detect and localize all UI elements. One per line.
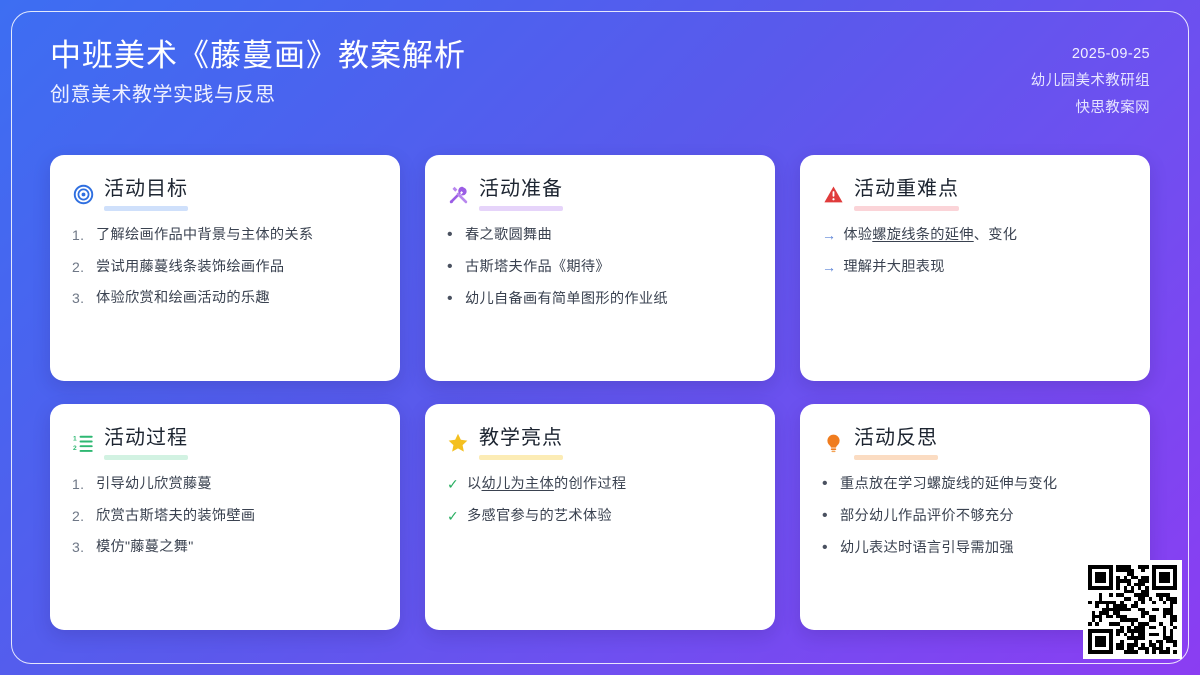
- list-marker: •: [447, 289, 458, 310]
- list-item: 1. 引导幼儿欣赏藤蔓: [72, 474, 378, 495]
- card-title: 活动目标: [104, 177, 188, 205]
- title-underline: [479, 206, 563, 211]
- list-item-text: 幼儿自备画有简单图形的作业纸: [465, 289, 753, 310]
- list-item-text: 体验螺旋线条的延伸、变化: [843, 225, 1128, 246]
- list-item: ✓ 以幼儿为主体的创作过程: [447, 474, 753, 495]
- card-body: 1. 了解绘画作品中背景与主体的关系 2. 尝试用藤蔓线条装饰绘画作品 3. 体…: [72, 225, 378, 309]
- list-marker: 1.: [72, 474, 89, 494]
- list-item-text: 春之歌圆舞曲: [465, 225, 753, 246]
- list-item: 2. 欣赏古斯塔夫的装饰壁画: [72, 506, 378, 527]
- card-title-wrap: 活动反思: [854, 426, 938, 460]
- title-underline: [104, 206, 188, 211]
- list-item: 2. 尝试用藤蔓线条装饰绘画作品: [72, 257, 378, 278]
- title-underline: [854, 206, 959, 211]
- list-item-text: 幼儿表达时语言引导需加强: [840, 538, 1128, 559]
- card-body: ✓ 以幼儿为主体的创作过程 ✓ 多感官参与的艺术体验: [447, 474, 753, 526]
- card-header: 活动目标: [72, 177, 378, 211]
- list-marker: •: [822, 506, 833, 527]
- card-title: 教学亮点: [479, 426, 563, 454]
- list-item-text: 欣赏古斯塔夫的装饰壁画: [96, 506, 378, 527]
- card-grid: 活动目标 1. 了解绘画作品中背景与主体的关系 2. 尝试用藤蔓线条装饰绘画作品…: [50, 155, 1150, 630]
- list-item: → 体验螺旋线条的延伸、变化: [822, 225, 1128, 246]
- card-body: → 体验螺旋线条的延伸、变化 → 理解并大胆表现: [822, 225, 1128, 277]
- card-body: • 重点放在学习螺旋线的延伸与变化 • 部分幼儿作品评价不够充分 • 幼儿表达时…: [822, 474, 1128, 558]
- list-item: • 幼儿自备画有简单图形的作业纸: [447, 289, 753, 310]
- card-title-wrap: 活动目标: [104, 177, 188, 211]
- page-title: 中班美术《藤蔓画》教案解析: [50, 38, 466, 74]
- card-title: 活动反思: [854, 426, 938, 454]
- list-item: • 春之歌圆舞曲: [447, 225, 753, 246]
- card-key-difficulties[interactable]: 活动重难点 → 体验螺旋线条的延伸、变化 → 理解并大胆表现: [800, 155, 1150, 381]
- card-title: 活动准备: [479, 177, 563, 205]
- header-date: 2025-09-25: [1072, 44, 1150, 66]
- card-title-wrap: 活动准备: [479, 177, 563, 211]
- list-marker: •: [822, 538, 833, 559]
- page-subtitle: 创意美术教学实践与反思: [50, 83, 466, 107]
- list-item-text: 古斯塔夫作品《期待》: [465, 257, 753, 278]
- list-marker: →: [822, 257, 836, 277]
- card-title-wrap: 教学亮点: [479, 426, 563, 460]
- list-item: • 幼儿表达时语言引导需加强: [822, 538, 1128, 559]
- card-body: 1. 引导幼儿欣赏藤蔓 2. 欣赏古斯塔夫的装饰壁画 3. 模仿"藤蔓之舞": [72, 474, 378, 558]
- card-header: 活动重难点: [822, 177, 1128, 211]
- card-header: 活动准备: [447, 177, 753, 211]
- list-item-text: 以幼儿为主体的创作过程: [467, 474, 753, 495]
- list-item-text: 引导幼儿欣赏藤蔓: [96, 474, 378, 495]
- card-teaching-highlights[interactable]: 教学亮点 ✓ 以幼儿为主体的创作过程 ✓ 多感官参与的艺术体验: [425, 404, 775, 630]
- list-item-text: 多感官参与的艺术体验: [467, 506, 753, 527]
- qr-code-pattern: [1088, 565, 1177, 654]
- title-underline: [104, 455, 188, 460]
- list-item-text: 重点放在学习螺旋线的延伸与变化: [840, 474, 1128, 495]
- card-header: 教学亮点: [447, 426, 753, 460]
- header-organization: 幼儿园美术教研组: [1031, 71, 1150, 93]
- list-item: • 重点放在学习螺旋线的延伸与变化: [822, 474, 1128, 495]
- list-marker: •: [822, 474, 833, 495]
- list-marker: 3.: [72, 288, 89, 308]
- svg-text:2: 2: [73, 445, 77, 452]
- list-item-text: 理解并大胆表现: [843, 257, 1128, 278]
- card-title: 活动重难点: [854, 177, 959, 205]
- title-underline: [479, 455, 563, 460]
- list-marker: 2.: [72, 506, 89, 526]
- card-body: • 春之歌圆舞曲 • 古斯塔夫作品《期待》 • 幼儿自备画有简单图形的作业纸: [447, 225, 753, 309]
- list-item-text: 了解绘画作品中背景与主体的关系: [96, 225, 378, 246]
- ordered-list-icon: 1 2: [72, 432, 94, 454]
- header-meta-group: 2025-09-25 幼儿园美术教研组 快思教案网: [1031, 38, 1150, 119]
- card-title: 活动过程: [104, 426, 188, 454]
- list-marker: •: [447, 225, 458, 246]
- list-marker: 3.: [72, 537, 89, 557]
- card-header: 活动反思: [822, 426, 1128, 460]
- card-title-wrap: 活动重难点: [854, 177, 959, 211]
- list-item-text: 模仿"藤蔓之舞": [96, 537, 378, 558]
- qr-code[interactable]: [1083, 560, 1182, 659]
- slide-page: 中班美术《藤蔓画》教案解析 创意美术教学实践与反思 2025-09-25 幼儿园…: [0, 0, 1200, 675]
- list-item: 1. 了解绘画作品中背景与主体的关系: [72, 225, 378, 246]
- list-item-text: 部分幼儿作品评价不够充分: [840, 506, 1128, 527]
- slide-header: 中班美术《藤蔓画》教案解析 创意美术教学实践与反思 2025-09-25 幼儿园…: [0, 0, 1200, 145]
- header-site-name: 快思教案网: [1076, 98, 1151, 120]
- list-marker: 1.: [72, 225, 89, 245]
- card-activity-goals[interactable]: 活动目标 1. 了解绘画作品中背景与主体的关系 2. 尝试用藤蔓线条装饰绘画作品…: [50, 155, 400, 381]
- list-item: ✓ 多感官参与的艺术体验: [447, 506, 753, 527]
- check-icon: ✓: [447, 474, 460, 494]
- card-activity-process[interactable]: 1 2 活动过程 1. 引导幼儿欣赏藤蔓: [50, 404, 400, 630]
- tools-icon: [447, 183, 469, 205]
- card-activity-preparation[interactable]: 活动准备 • 春之歌圆舞曲 • 古斯塔夫作品《期待》 • 幼儿自备画有简单图形的…: [425, 155, 775, 381]
- list-item-text: 尝试用藤蔓线条装饰绘画作品: [96, 257, 378, 278]
- svg-text:1: 1: [73, 435, 77, 442]
- list-item-text: 体验欣赏和绘画活动的乐趣: [96, 288, 378, 309]
- list-marker: •: [447, 257, 458, 278]
- list-item: 3. 模仿"藤蔓之舞": [72, 537, 378, 558]
- card-title-wrap: 活动过程: [104, 426, 188, 460]
- list-marker: 2.: [72, 257, 89, 277]
- list-item: • 古斯塔夫作品《期待》: [447, 257, 753, 278]
- lightbulb-icon: [822, 432, 844, 454]
- list-marker: →: [822, 225, 836, 245]
- card-header: 1 2 活动过程: [72, 426, 378, 460]
- list-item: → 理解并大胆表现: [822, 257, 1128, 278]
- warning-triangle-icon: [822, 183, 844, 205]
- title-underline: [854, 455, 938, 460]
- list-item: 3. 体验欣赏和绘画活动的乐趣: [72, 288, 378, 309]
- list-item: • 部分幼儿作品评价不够充分: [822, 506, 1128, 527]
- star-icon: [447, 432, 469, 454]
- header-left-group: 中班美术《藤蔓画》教案解析 创意美术教学实践与反思: [50, 38, 466, 107]
- check-icon: ✓: [447, 506, 460, 526]
- target-icon: [72, 183, 94, 205]
